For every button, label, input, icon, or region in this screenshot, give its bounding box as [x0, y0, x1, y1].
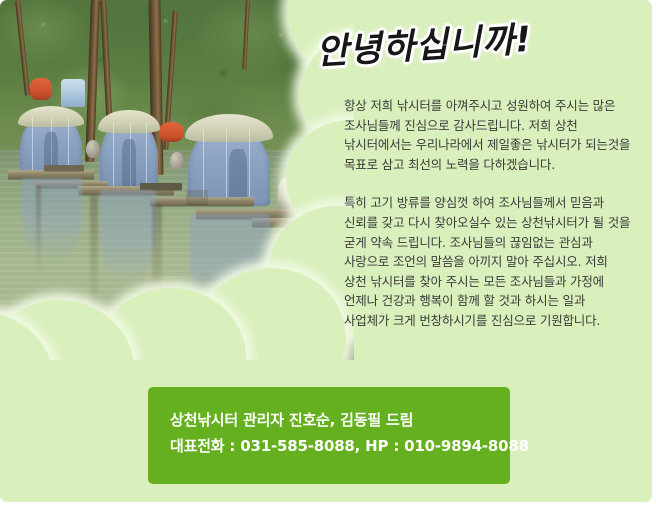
photo-trunk-reflection [90, 196, 98, 316]
photo-stone-statue [278, 177, 300, 209]
photo-trunk-reflection [152, 204, 162, 314]
greeting-paragraph-2: 특히 고기 방류를 양심껏 하여 조사님들께서 믿음과 신뢰를 갖고 다시 찾아… [344, 193, 632, 330]
signature-managers: 상천낚시터 관리자 진호순, 김동필 드림 [170, 409, 413, 430]
greeting-page: 안녕하십니까! 항상 저희 낚시터를 아껴주시고 성원하여 주시는 많은 조사님… [0, 0, 656, 506]
photo-tent-rib [249, 129, 250, 204]
signature-box: 상천낚시터 관리자 진호순, 김동필 드림 대표전화 : 031-585-808… [148, 387, 510, 484]
photo-orange-object [30, 78, 52, 100]
photo-seat-board [140, 183, 182, 190]
page-card: 안녕하십니까! 항상 저희 낚시터를 아껴주시고 성원하여 주시는 많은 조사님… [0, 0, 652, 502]
photo-fishing-tent [100, 118, 158, 188]
photo-plastic-chair [61, 79, 85, 107]
signature-phone: 대표전화 : 031-585-8088, HP : 010-9894-8088 [170, 435, 529, 456]
photo-rock [170, 152, 184, 170]
greeting-paragraph-1: 항상 저희 낚시터를 아껴주시고 성원하여 주시는 많은 조사님들께 진심으로 … [344, 96, 632, 174]
fishing-site-photo [0, 0, 360, 360]
photo-orange-object [159, 122, 184, 142]
photo-tent-rib [113, 122, 114, 186]
photo-light-reflection [196, 282, 270, 318]
photo-seat-board [186, 190, 208, 204]
greeting-body: 항상 저희 낚시터를 아껴주시고 성원하여 주시는 많은 조사님들께 진심으로 … [344, 96, 632, 331]
photo-trunk-reflection [36, 186, 41, 276]
photo-tent-rib [32, 117, 33, 174]
photo-rock [86, 140, 100, 158]
photo-tent-rib [146, 122, 147, 186]
photo-tent-rib [226, 129, 227, 204]
photo-seat-board [44, 165, 84, 171]
photo-canvas [0, 0, 360, 360]
photo-tent-door [122, 139, 136, 188]
